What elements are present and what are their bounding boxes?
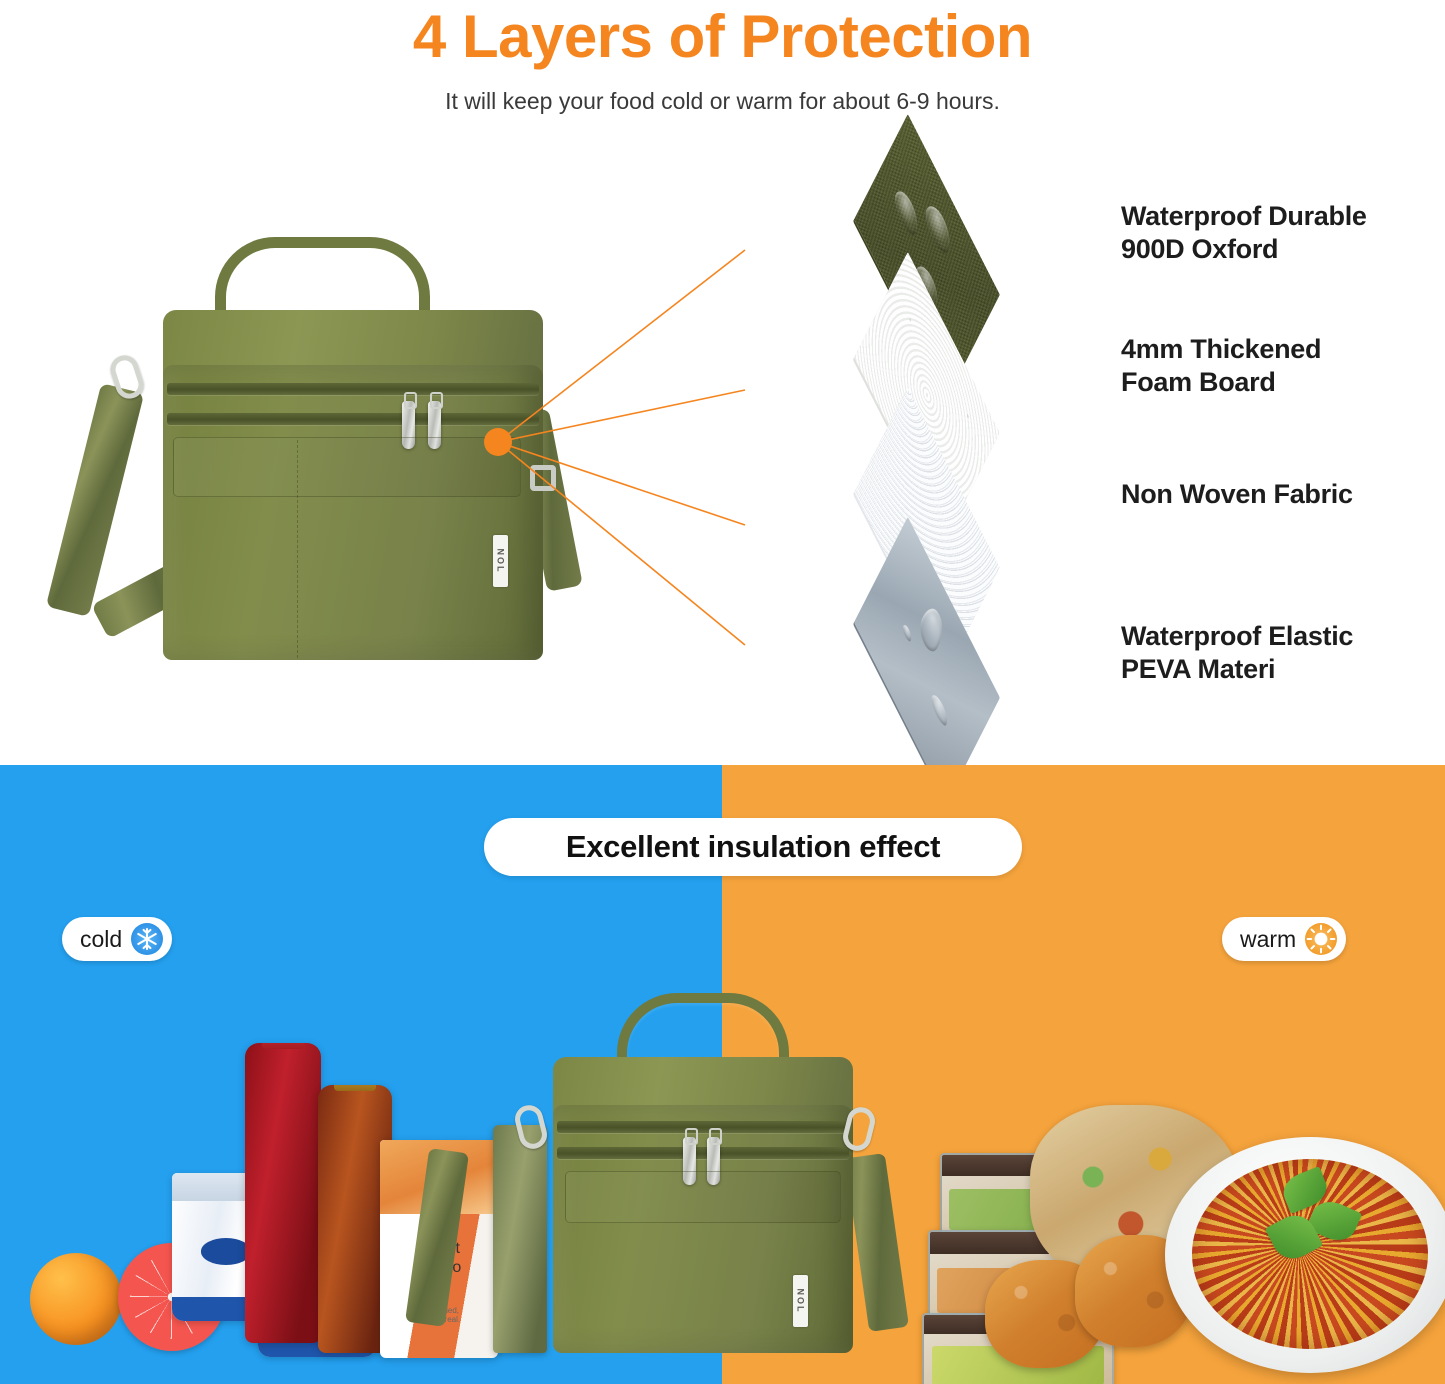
layer-label-oxford: Waterproof Durable 900D Oxford (1121, 200, 1367, 266)
page-title: 4 Layers of Protection (0, 2, 1445, 71)
warm-badge-label: warm (1240, 926, 1296, 953)
layer-label-nonwoven: Non Woven Fabric (1121, 478, 1353, 511)
zipper-track-upper (557, 1121, 849, 1133)
lunch-bag-front-view: NOL (505, 985, 905, 1365)
yogurt-logo (201, 1238, 252, 1265)
bottle-cap (262, 1043, 304, 1049)
layer-label-peva: Waterproof Elastic PEVA Materi (1121, 620, 1353, 686)
cold-badge-label: cold (80, 926, 122, 953)
bag-body (163, 365, 543, 660)
warm-badge: warm (1222, 917, 1346, 961)
brand-label-text: NOL (796, 1289, 806, 1314)
zipper-track-upper (167, 383, 539, 395)
shoulder-strap (46, 383, 144, 617)
carry-handle (617, 993, 789, 1065)
cold-badge: cold (62, 917, 172, 961)
strap-d-ring-right (530, 465, 556, 491)
insulation-effect-badge: Excellent insulation effect (484, 818, 1022, 876)
spaghetti-bowl (1165, 1137, 1445, 1377)
zipper-track-lower (557, 1147, 849, 1159)
body-seam (297, 440, 298, 658)
bottle-cap (334, 1085, 376, 1091)
page-subtitle: It will keep your food cold or warm for … (0, 88, 1445, 115)
snowflake-icon (131, 923, 163, 955)
cola-bottle (245, 1043, 321, 1343)
brand-label-tag: NOL (793, 1275, 808, 1327)
brand-label-text: NOL (496, 549, 506, 574)
carry-handle (215, 237, 430, 319)
zipper-track-lower (167, 413, 539, 425)
front-pocket (565, 1171, 841, 1223)
layer-label-foam: 4mm Thickened Foam Board (1121, 333, 1321, 399)
bag-body (553, 1105, 853, 1353)
strap-carabiner-left (512, 1102, 550, 1151)
front-pocket (173, 437, 521, 497)
peva-material-swatch (738, 585, 1116, 735)
layers-of-protection-section: 4 Layers of Protection It will keep your… (0, 0, 1445, 765)
lunch-bag-product-image: NOL (75, 225, 595, 675)
orange-fruit (30, 1253, 122, 1345)
brand-label-tag: NOL (493, 535, 508, 587)
shoulder-strap-right (845, 1153, 909, 1332)
sun-icon (1305, 923, 1337, 955)
